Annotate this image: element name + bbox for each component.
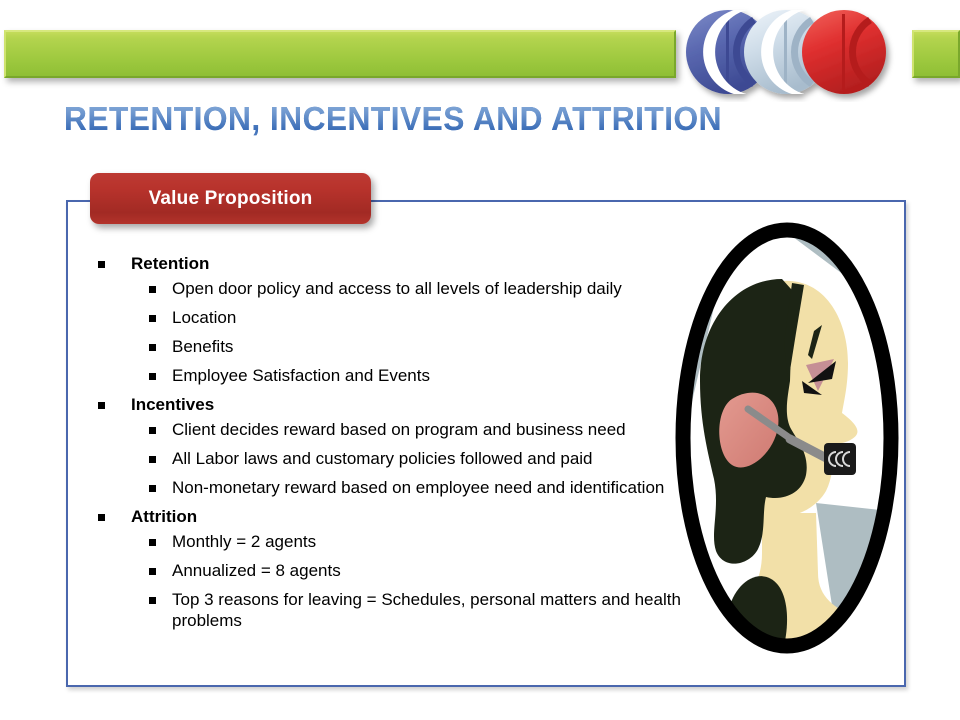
slide-canvas: RETENTION, INCENTIVES AND ATTRITION RETE… (0, 0, 960, 720)
square-bullet-icon (149, 373, 156, 380)
bullet-item: Employee Satisfaction and Events (149, 365, 688, 386)
square-bullet-icon (149, 568, 156, 575)
bullet-item: Non-monetary reward based on employee ne… (149, 477, 688, 498)
bullet-text: Annualized = 8 agents (172, 560, 688, 581)
bullet-item: Attrition (98, 506, 688, 528)
bullet-item: Monthly = 2 agents (149, 531, 688, 552)
bullet-item: Annualized = 8 agents (149, 560, 688, 581)
call-center-agent-illustration (666, 213, 908, 663)
header-green-bar (4, 30, 676, 78)
bullet-item: Client decides reward based on program a… (149, 419, 688, 440)
ccc-logo (676, 2, 908, 102)
bullet-item: All Labor laws and customary policies fo… (149, 448, 688, 469)
square-bullet-icon (149, 315, 156, 322)
bullet-text: Client decides reward based on program a… (172, 419, 688, 440)
square-bullet-icon (149, 539, 156, 546)
value-proposition-label: Value Proposition (149, 188, 313, 210)
bullet-item: Incentives (98, 394, 688, 416)
square-bullet-icon (149, 286, 156, 293)
bullet-item: Open door policy and access to all level… (149, 278, 688, 299)
bullet-text: Employee Satisfaction and Events (172, 365, 688, 386)
bullet-item: Retention (98, 253, 688, 275)
header-green-accent-square (912, 30, 960, 78)
bullet-text: Retention (131, 253, 688, 275)
bullet-item: Top 3 reasons for leaving = Schedules, p… (149, 589, 688, 631)
bullet-text: Location (172, 307, 688, 328)
headset-microphone (824, 443, 856, 475)
bullet-text: Incentives (131, 394, 688, 416)
square-bullet-icon (98, 261, 105, 268)
square-bullet-icon (149, 344, 156, 351)
square-bullet-icon (98, 402, 105, 409)
bullet-text: Open door policy and access to all level… (172, 278, 688, 299)
bullet-text: Attrition (131, 506, 688, 528)
square-bullet-icon (149, 485, 156, 492)
square-bullet-icon (149, 456, 156, 463)
bullet-list: RetentionOpen door policy and access to … (98, 248, 688, 639)
bullet-text: Monthly = 2 agents (172, 531, 688, 552)
bullet-item: Benefits (149, 336, 688, 357)
logo-c-red (802, 10, 886, 94)
bullet-text: Non-monetary reward based on employee ne… (172, 477, 688, 498)
square-bullet-icon (149, 597, 156, 604)
page-title: RETENTION, INCENTIVES AND ATTRITION (64, 99, 722, 139)
bullet-text: All Labor laws and customary policies fo… (172, 448, 688, 469)
square-bullet-icon (149, 427, 156, 434)
value-proposition-badge: Value Proposition (90, 173, 371, 224)
square-bullet-icon (98, 514, 105, 521)
bullet-item: Location (149, 307, 688, 328)
bullet-text: Top 3 reasons for leaving = Schedules, p… (172, 589, 688, 631)
bullet-text: Benefits (172, 336, 688, 357)
